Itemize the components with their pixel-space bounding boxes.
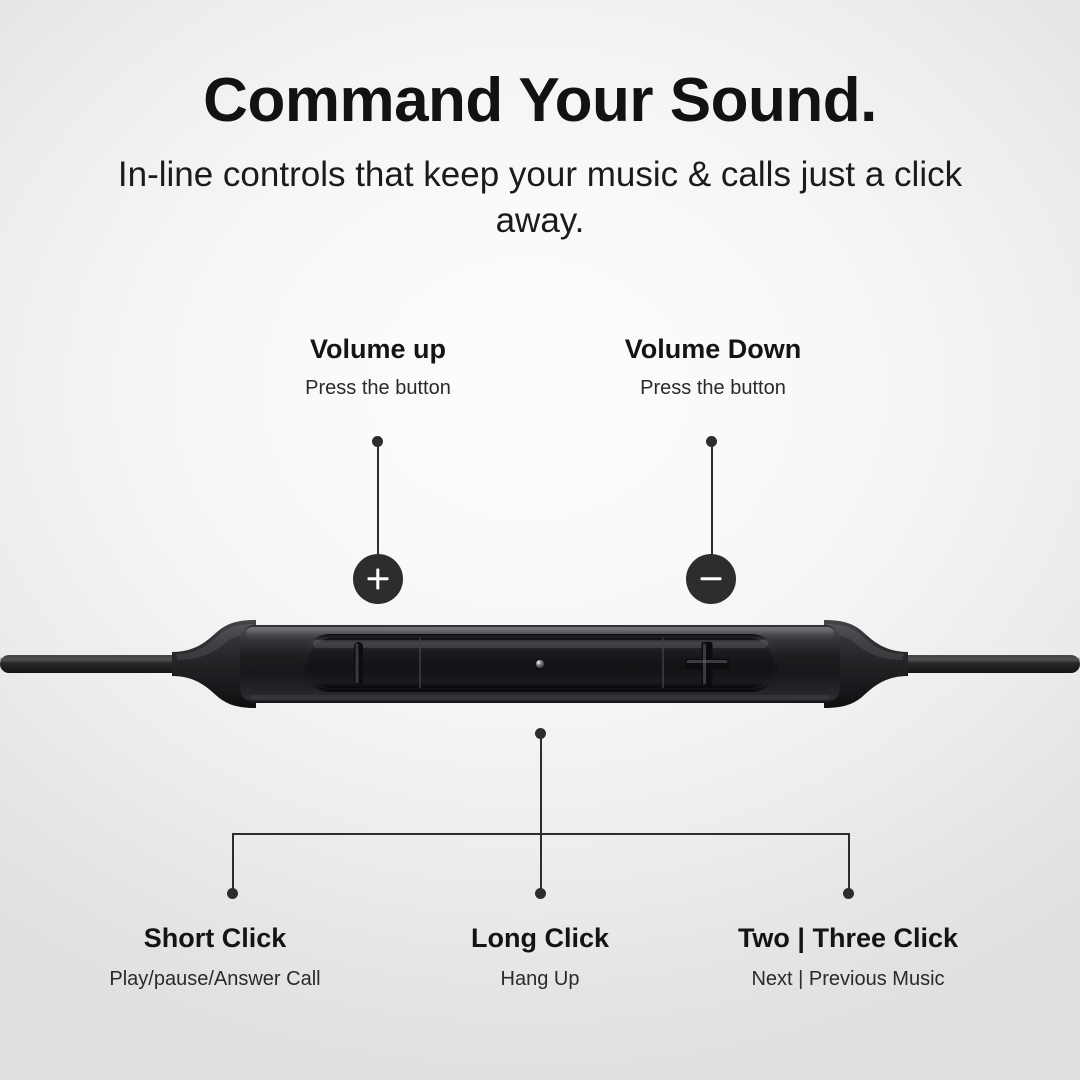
callout-long-click: Long Click Hang Up — [370, 922, 710, 991]
plus-icon-stem — [376, 569, 379, 590]
minus-icon[interactable] — [354, 642, 363, 685]
leader-line-volume-down — [711, 441, 713, 555]
callout-long-click-title: Long Click — [370, 922, 710, 954]
callout-multi-click: Two | Three Click Next | Previous Music — [678, 922, 1018, 991]
remote-body-bottom-edge — [250, 695, 830, 700]
leader-line-remote — [540, 733, 542, 834]
page-subtitle: In-line controls that keep your music & … — [112, 152, 968, 244]
minus-badge — [686, 554, 736, 604]
callout-short-click-title: Short Click — [45, 922, 385, 954]
callout-multi-click-subtitle: Next | Previous Music — [678, 967, 1018, 991]
leader-line-short-click — [232, 833, 234, 893]
leader-line-long-click — [540, 833, 542, 893]
leader-dot-multi-click — [843, 888, 854, 899]
callout-long-click-subtitle: Hang Up — [370, 967, 710, 991]
callout-short-click-subtitle: Play/pause/Answer Call — [45, 967, 385, 991]
infographic-canvas: Command Your Sound. In-line controls tha… — [0, 0, 1080, 1080]
callout-volume-down-title: Volume Down — [553, 333, 873, 365]
leader-dot-short-click — [227, 888, 238, 899]
cable-right — [898, 655, 1080, 673]
microphone-pinhole-icon — [534, 658, 545, 669]
button-plate-highlight — [313, 640, 768, 648]
leader-line-multi-click — [848, 833, 850, 893]
callout-volume-up: Volume up Press the button — [218, 333, 538, 400]
callout-multi-click-title: Two | Three Click — [678, 922, 1018, 954]
callout-volume-down: Volume Down Press the button — [553, 333, 873, 400]
page-title: Command Your Sound. — [0, 66, 1080, 135]
leader-dot-long-click — [535, 888, 546, 899]
plus-badge — [353, 554, 403, 604]
cable-left — [0, 655, 182, 673]
leader-line-volume-up — [377, 441, 379, 555]
callout-short-click: Short Click Play/pause/Answer Call — [45, 922, 385, 991]
minus-icon — [701, 577, 722, 580]
in-line-remote-control — [0, 600, 1080, 730]
callout-volume-up-title: Volume up — [218, 333, 538, 365]
callout-volume-up-subtitle: Press the button — [218, 376, 538, 400]
callout-volume-down-subtitle: Press the button — [553, 376, 873, 400]
